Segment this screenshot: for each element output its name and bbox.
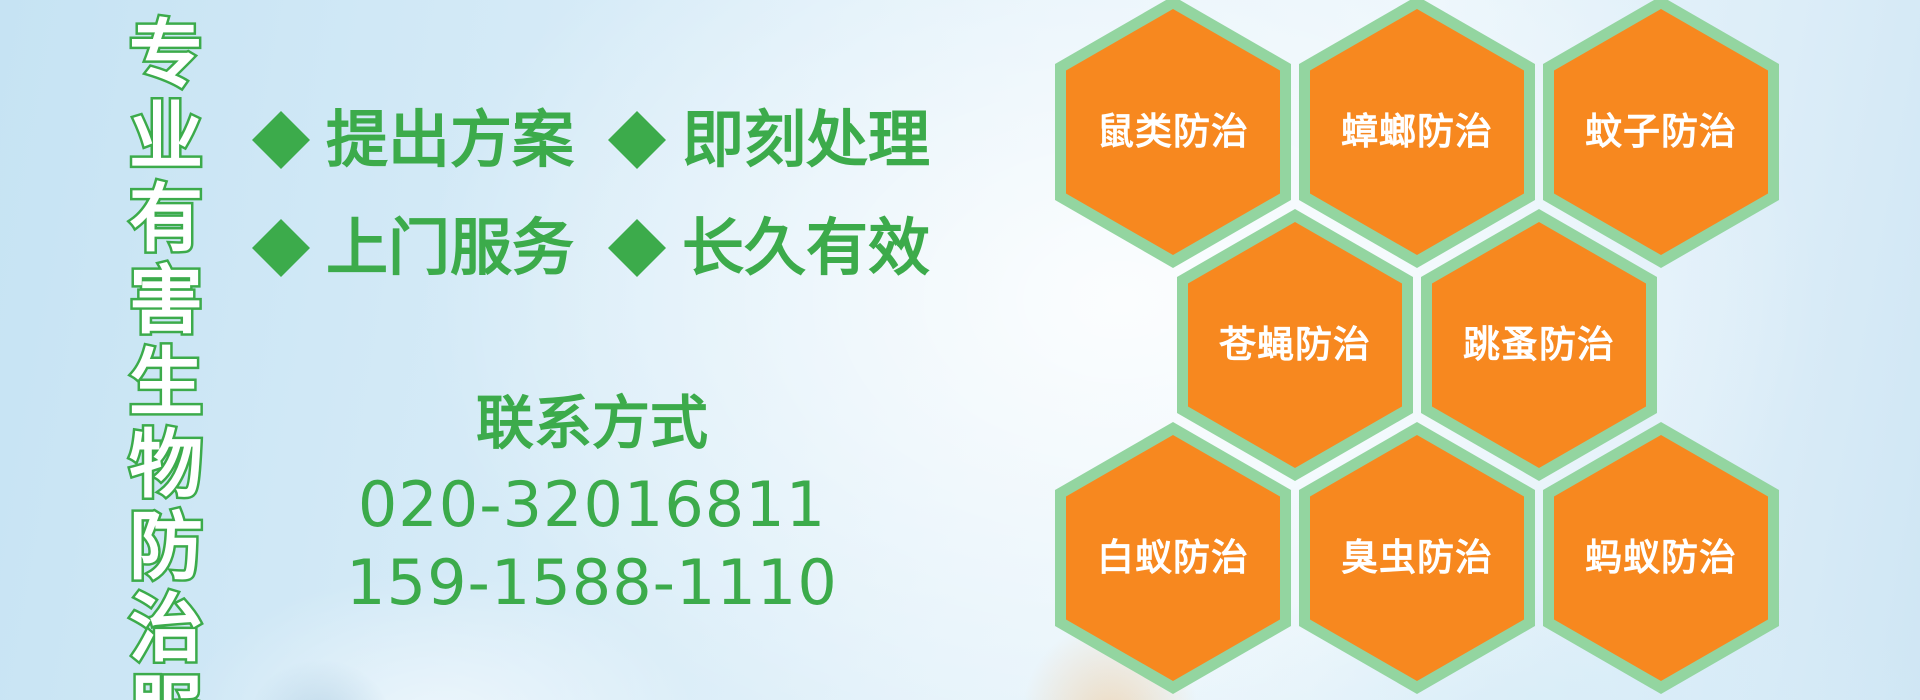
background-glow-bottom xyxy=(250,660,390,700)
vertical-headline-char: 生 xyxy=(129,342,203,424)
vertical-headline: 专 业 有 害 生 物 防 治 服 务 xyxy=(118,14,214,686)
feature-label: 长久有效 xyxy=(682,216,930,280)
feature-label: 上门服务 xyxy=(326,216,574,280)
vertical-headline-char: 业 xyxy=(129,96,203,178)
hex-label: 蟑螂防治 xyxy=(1341,112,1493,152)
feature-row: 上门服务 长久有效 xyxy=(252,194,892,302)
feature-item-onsite-service: 上门服务 xyxy=(252,216,574,280)
hex-label: 鼠类防治 xyxy=(1097,112,1249,152)
hex-service-termite[interactable]: 白蚁防治 xyxy=(1055,422,1291,694)
vertical-headline-char: 物 xyxy=(129,424,203,506)
vertical-headline-char: 防 xyxy=(129,506,203,588)
hex-label: 跳蚤防治 xyxy=(1463,325,1615,365)
hex-label: 蚊子防治 xyxy=(1585,112,1737,152)
hex-label: 蚂蚁防治 xyxy=(1585,538,1737,578)
feature-label: 提出方案 xyxy=(326,108,574,172)
feature-label: 即刻处理 xyxy=(682,108,930,172)
feature-item-immediate-action: 即刻处理 xyxy=(608,108,930,172)
contact-block: 联系方式 020-32016811 159-1588-1110 xyxy=(252,388,932,622)
diamond-bullet-icon xyxy=(252,190,310,248)
hex-label: 白蚁防治 xyxy=(1097,538,1249,578)
hex-service-ant[interactable]: 蚂蚁防治 xyxy=(1543,422,1779,694)
vertical-headline-char: 治 xyxy=(129,588,203,670)
feature-item-propose-plan: 提出方案 xyxy=(252,108,574,172)
feature-row: 提出方案 即刻处理 xyxy=(252,86,892,194)
hex-label: 苍蝇防治 xyxy=(1219,325,1371,365)
feature-list: 提出方案 即刻处理 上门服务 长久有效 xyxy=(252,86,892,302)
feature-item-long-lasting: 长久有效 xyxy=(608,216,930,280)
promo-banner: 专 业 有 害 生 物 防 治 服 务 提出方案 即刻处理 上门服务 xyxy=(0,0,1920,700)
hex-label: 臭虫防治 xyxy=(1341,538,1493,578)
hex-service-bedbug[interactable]: 臭虫防治 xyxy=(1299,422,1535,694)
contact-phone-mobile[interactable]: 159-1588-1110 xyxy=(252,544,932,622)
diamond-bullet-icon xyxy=(608,190,666,248)
contact-heading: 联系方式 xyxy=(252,388,932,458)
vertical-headline-char: 害 xyxy=(129,260,203,342)
contact-phone-landline[interactable]: 020-32016811 xyxy=(252,466,932,544)
service-hexagon-grid: 鼠类防治 蟑螂防治 蚊子防治 苍蝇防治 跳蚤防治 xyxy=(1055,0,1815,700)
vertical-headline-char: 服 xyxy=(129,670,203,700)
vertical-headline-char: 专 xyxy=(129,14,203,96)
diamond-bullet-icon xyxy=(608,82,666,140)
diamond-bullet-icon xyxy=(252,82,310,140)
vertical-headline-char: 有 xyxy=(129,178,203,260)
